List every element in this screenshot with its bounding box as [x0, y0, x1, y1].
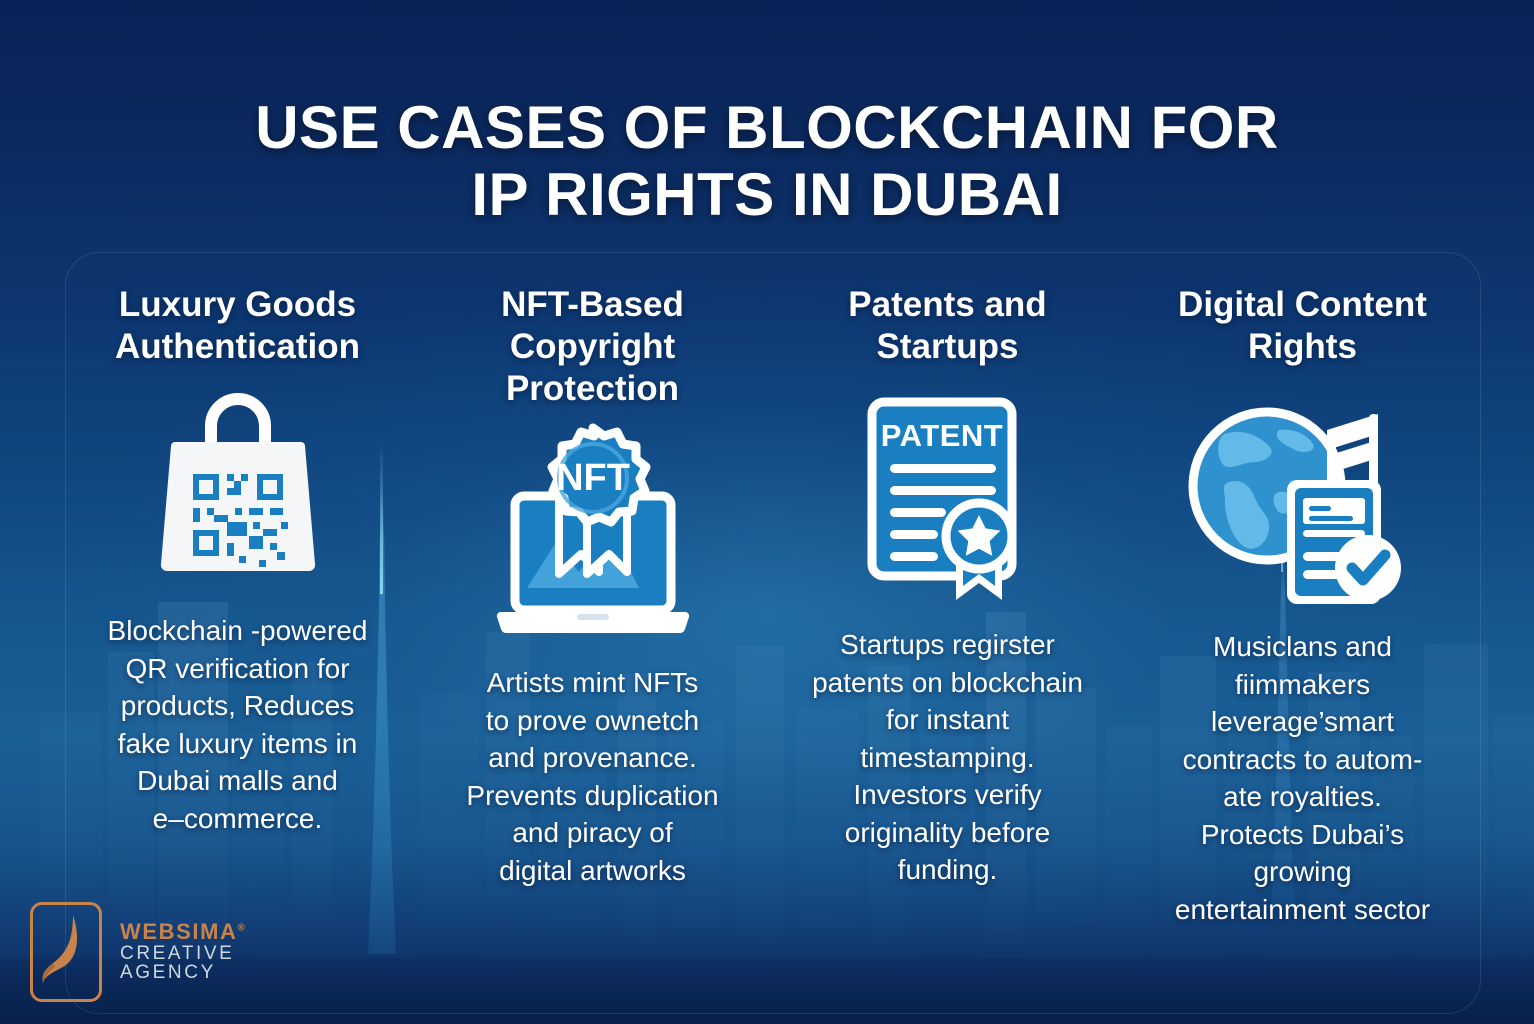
patent-certificate-icon: PATENT [860, 394, 1036, 604]
logo-brand-name: WEBSIMA® [120, 921, 245, 943]
heading-line: Digital [1178, 285, 1285, 324]
body-line: and provenance. [466, 739, 718, 777]
column-heading: Digital Content Rights [1125, 284, 1480, 368]
use-case-column-digital-content: Digital Content Rights [1125, 268, 1480, 968]
body-line: for instant [812, 701, 1083, 739]
page-title-line-1: USE CASES OF BLOCKCHAIN FOR [0, 94, 1534, 161]
body-line: digital artworks [466, 852, 718, 890]
logo-tagline-line-2: AGENCY [120, 963, 245, 982]
use-case-column-nft-copyright: NFT-Based Copyright Protection [415, 268, 770, 968]
body-line: Dubai malls and [108, 762, 368, 800]
infographic-canvas: USE CASES OF BLOCKCHAIN FOR IP RIGHTS IN… [0, 0, 1534, 1024]
logo-tagline-line-1: CREATIVE [120, 944, 245, 963]
body-line: funding. [812, 851, 1083, 889]
body-line: leverage’smart [1175, 703, 1430, 741]
body-line: fake luxury items in [108, 725, 368, 763]
body-line: and piracy of [466, 814, 718, 852]
patent-label: PATENT [880, 418, 1002, 453]
logo-wordmark: WEBSIMA® CREATIVE AGENCY [120, 921, 245, 982]
page-title-line-2: IP RIGHTS IN DUBAI [0, 161, 1534, 228]
column-body-text: Musiclans and fiimmakers leverage’smart … [1169, 628, 1436, 928]
heading-line: NFT-Based [501, 285, 684, 324]
body-line: ate royalties. [1175, 778, 1430, 816]
column-body-text: Artists mint NFTs to prove ownetch and p… [460, 664, 724, 889]
heading-line: Patents and [848, 285, 1046, 324]
heading-line: Luxury Goods [119, 285, 356, 324]
body-line: growing [1175, 853, 1430, 891]
body-line: Musiclans and [1175, 628, 1430, 666]
use-case-column-luxury-goods: Luxury Goods Authentication [60, 268, 415, 968]
heading-line: Copyright [510, 327, 675, 366]
icon-container [1183, 396, 1423, 606]
registered-mark-icon: ® [238, 923, 245, 934]
column-body-text: Blockchain -powered QR verification for … [102, 612, 374, 837]
heading-line: Protection [506, 369, 679, 408]
nft-badge-label: NFT [556, 457, 630, 499]
icon-container [153, 382, 323, 592]
use-case-column-patents-startups: Patents and Startups PATENT [770, 268, 1125, 968]
body-line: to prove ownetch [466, 702, 718, 740]
globe-document-music-icon [1183, 396, 1423, 606]
nft-laptop-badge-icon: NFT [487, 420, 699, 638]
icon-container: PATENT [860, 394, 1036, 604]
column-heading: NFT-Based Copyright Protection [415, 284, 770, 410]
body-line: contracts to autom- [1175, 741, 1430, 779]
body-line: timestamping. [812, 739, 1083, 777]
body-line: Prevents duplication [466, 777, 718, 815]
heading-line: Startups [877, 327, 1019, 366]
logo-mark-frame [30, 902, 102, 1002]
body-line: originality before [812, 814, 1083, 852]
body-line: fiimmakers [1175, 666, 1430, 704]
shopping-bag-qr-icon [153, 382, 323, 592]
body-line: QR verification for [108, 650, 368, 688]
heading-line: Authentication [115, 327, 360, 366]
column-heading: Patents and Startups [770, 284, 1125, 368]
body-line: patents on blockchain [812, 664, 1083, 702]
body-line: entertainment sector [1175, 891, 1430, 929]
icon-container: NFT [487, 420, 699, 638]
body-line: Artists mint NFTs [466, 664, 718, 702]
use-case-columns: Luxury Goods Authentication [60, 268, 1480, 968]
body-line: Blockchain -powered [108, 612, 368, 650]
websima-logo[interactable]: WEBSIMA® CREATIVE AGENCY [30, 902, 245, 1002]
body-line: Startups regirster [812, 626, 1083, 664]
body-line: products, Reduces [108, 687, 368, 725]
page-title: USE CASES OF BLOCKCHAIN FOR IP RIGHTS IN… [0, 94, 1534, 228]
body-line: e–commerce. [108, 800, 368, 838]
body-line: Protects Dubai’s [1175, 816, 1430, 854]
body-line: Investors verify [812, 776, 1083, 814]
column-heading: Luxury Goods Authentication [60, 284, 415, 368]
column-body-text: Startups regirster patents on blockchain… [806, 626, 1089, 889]
feather-flame-icon [33, 905, 93, 993]
